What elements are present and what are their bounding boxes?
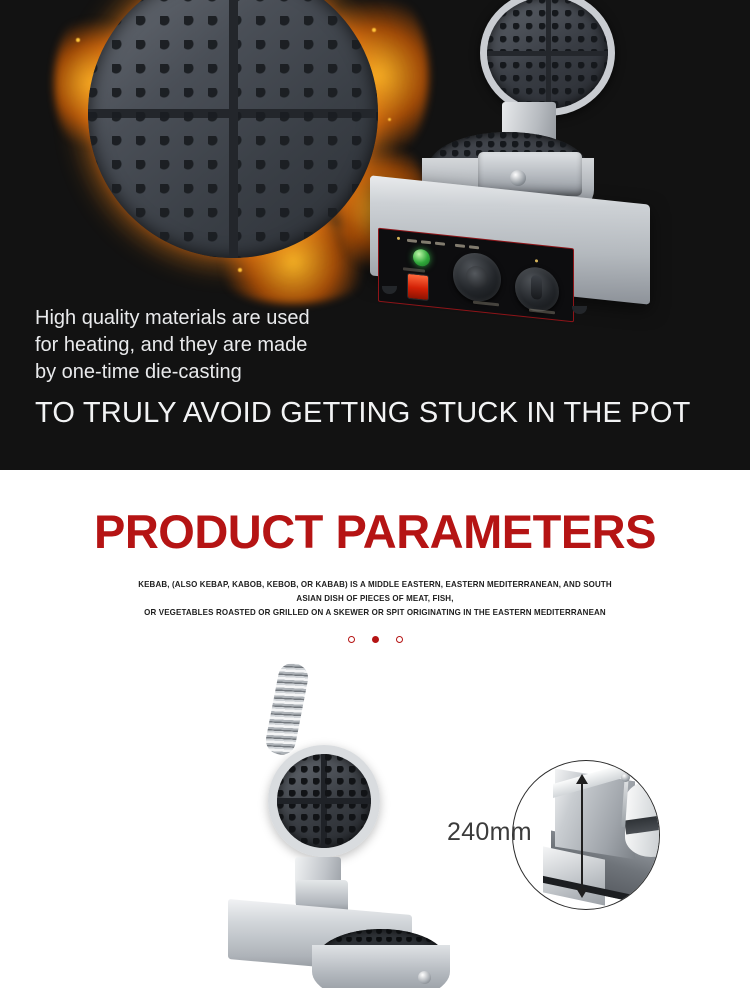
spark-icon: [76, 38, 80, 42]
hero-section: High quality materials are used for heat…: [0, 0, 750, 470]
panel-text-mark: [407, 239, 417, 243]
waffle-grid-pattern: [487, 0, 608, 109]
panel-tick-icon: [535, 259, 538, 262]
power-rocker-switch[interactable]: [407, 273, 429, 301]
product-detail-page: High quality materials are used for heat…: [0, 0, 750, 988]
panel-text-mark: [421, 240, 431, 244]
subtitle-line-1: KEBAB, (ALSO KEBAP, KABOB, KEBOB, OR KAB…: [125, 577, 624, 605]
spark-icon: [238, 268, 242, 272]
panel-text-mark: [469, 245, 479, 249]
hero-copy-block: High quality materials are used for heat…: [35, 305, 691, 431]
dimension-label: 240mm: [447, 818, 532, 847]
hero-body-line-1: High quality materials are used: [35, 305, 691, 332]
upper-waffle-plate: [268, 745, 380, 857]
hero-headline: TO TRULY AVOID GETTING STUCK IN THE POT: [35, 395, 691, 431]
flaming-waffle-plate-graphic: [88, 0, 378, 258]
waffle-plate-closeup: [88, 0, 378, 258]
product-parameters-section: PRODUCT PARAMETERS KEBAB, (ALSO KEBAP, K…: [0, 470, 750, 643]
carousel-dot-1[interactable]: [348, 636, 355, 643]
section-title: PRODUCT PARAMETERS: [0, 504, 750, 559]
carousel-dots: [0, 636, 750, 643]
dimension-arrow-icon: [581, 783, 583, 889]
coil-spring-handle: [263, 661, 310, 757]
waffle-maker-appliance: [360, 0, 660, 350]
waffle-grid-pattern: [277, 754, 371, 848]
power-indicator-light: [413, 248, 430, 267]
callout-screw-icon: [621, 773, 630, 782]
upper-waffle-plate: [480, 0, 615, 116]
hero-body-line-3: by one-time die-casting: [35, 359, 691, 386]
panel-text-mark: [435, 242, 445, 246]
hinge-bolt-icon: [510, 170, 526, 186]
panel-text-mark: [455, 244, 465, 248]
subtitle-line-2: OR VEGETABLES ROASTED OR GRILLED ON A SK…: [125, 605, 624, 619]
timer-knob[interactable]: [453, 251, 501, 304]
pan-bolt-icon: [418, 971, 431, 984]
carousel-dot-3[interactable]: [396, 636, 403, 643]
panel-tick-icon: [397, 237, 400, 240]
section-subtitle: KEBAB, (ALSO KEBAP, KABOB, KEBOB, OR KAB…: [125, 577, 624, 619]
waffle-grid-pattern: [88, 0, 378, 258]
carousel-dot-2-active[interactable]: [372, 636, 379, 643]
hero-body-line-2: for heating, and they are made: [35, 332, 691, 359]
panel-text-mark: [403, 267, 425, 272]
